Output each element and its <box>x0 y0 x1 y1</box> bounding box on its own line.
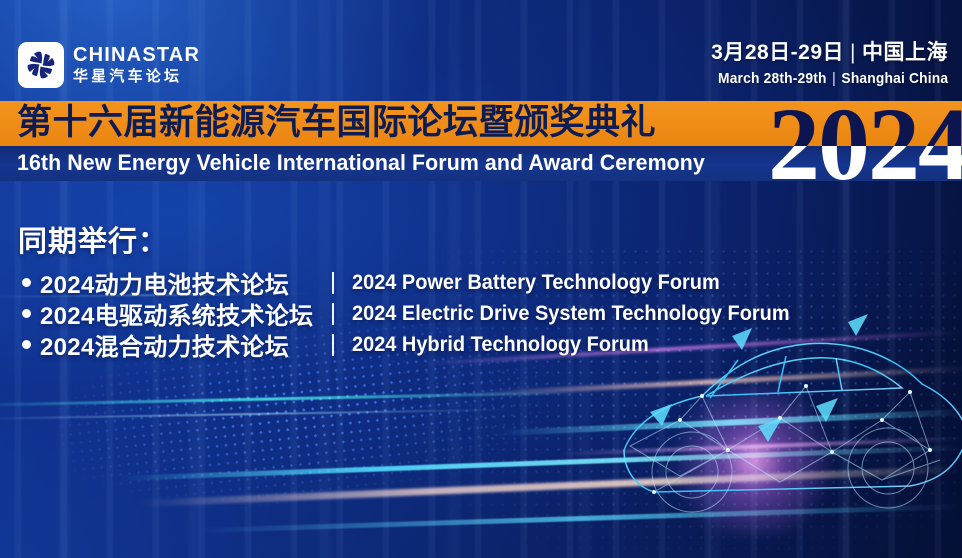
date-separator-en: | <box>826 69 841 89</box>
event-title-cn: 第十六届新能源汽车国际论坛暨颁奖典礼 <box>17 101 656 146</box>
list-item: 2024动力电池技术论坛 2024 Power Battery Technolo… <box>18 267 813 298</box>
forum-name-cn: 2024动力电池技术论坛 <box>40 265 332 300</box>
forum-separator <box>332 334 334 356</box>
bullet-icon <box>22 278 31 287</box>
logo-wordmark: CHINASTAR 华星汽车论坛 <box>73 45 200 85</box>
star-burst-icon <box>18 42 64 88</box>
forum-name-en: 2024 Electric Drive System Technology Fo… <box>352 302 790 326</box>
forum-name-en: 2024 Hybrid Technology Forum <box>352 333 649 357</box>
logo-name-en: CHINASTAR <box>73 45 200 66</box>
location-cn-text: 中国上海 <box>862 41 948 64</box>
bullet-icon <box>22 340 31 349</box>
bullet-icon <box>22 309 31 318</box>
date-separator-cn: | <box>844 40 862 66</box>
forum-name-cn: 2024混合动力技术论坛 <box>40 327 332 362</box>
date-line-en: March 28th-29th|Shanghai China <box>718 69 948 89</box>
forums-heading: 同期举行： <box>18 218 813 260</box>
event-title-en: 16th New Energy Vehicle International Fo… <box>17 146 705 181</box>
forum-name-en: 2024 Power Battery Technology Forum <box>352 271 720 295</box>
logo-name-cn: 华星汽车论坛 <box>73 68 200 85</box>
chinastar-logo[interactable]: CHINASTAR 华星汽车论坛 <box>18 42 200 88</box>
event-poster: CHINASTAR 华星汽车论坛 3月28日-29日|中国上海 March 28… <box>0 0 962 558</box>
forum-name-cn: 2024电驱动系统技术论坛 <box>40 296 332 331</box>
event-date-location: 3月28日-29日|中国上海 March 28th-29th|Shanghai … <box>698 40 948 89</box>
list-item: 2024混合动力技术论坛 2024 Hybrid Technology Foru… <box>18 329 813 360</box>
title-banner: 2024 2024 第十六届新能源汽车国际论坛暨颁奖典礼 16th New En… <box>0 101 962 181</box>
date-en-text: March 28th-29th <box>718 70 827 87</box>
list-item: 2024电驱动系统技术论坛 2024 Electric Drive System… <box>18 298 813 329</box>
location-en-text: Shanghai China <box>841 70 948 87</box>
date-cn-text: 3月28日-29日 <box>711 41 844 64</box>
concurrent-forums: 同期举行： 2024动力电池技术论坛 2024 Power Battery Te… <box>18 218 813 360</box>
date-line-cn: 3月28日-29日|中国上海 <box>698 40 948 66</box>
forum-separator <box>332 303 334 325</box>
forum-separator <box>332 272 334 294</box>
